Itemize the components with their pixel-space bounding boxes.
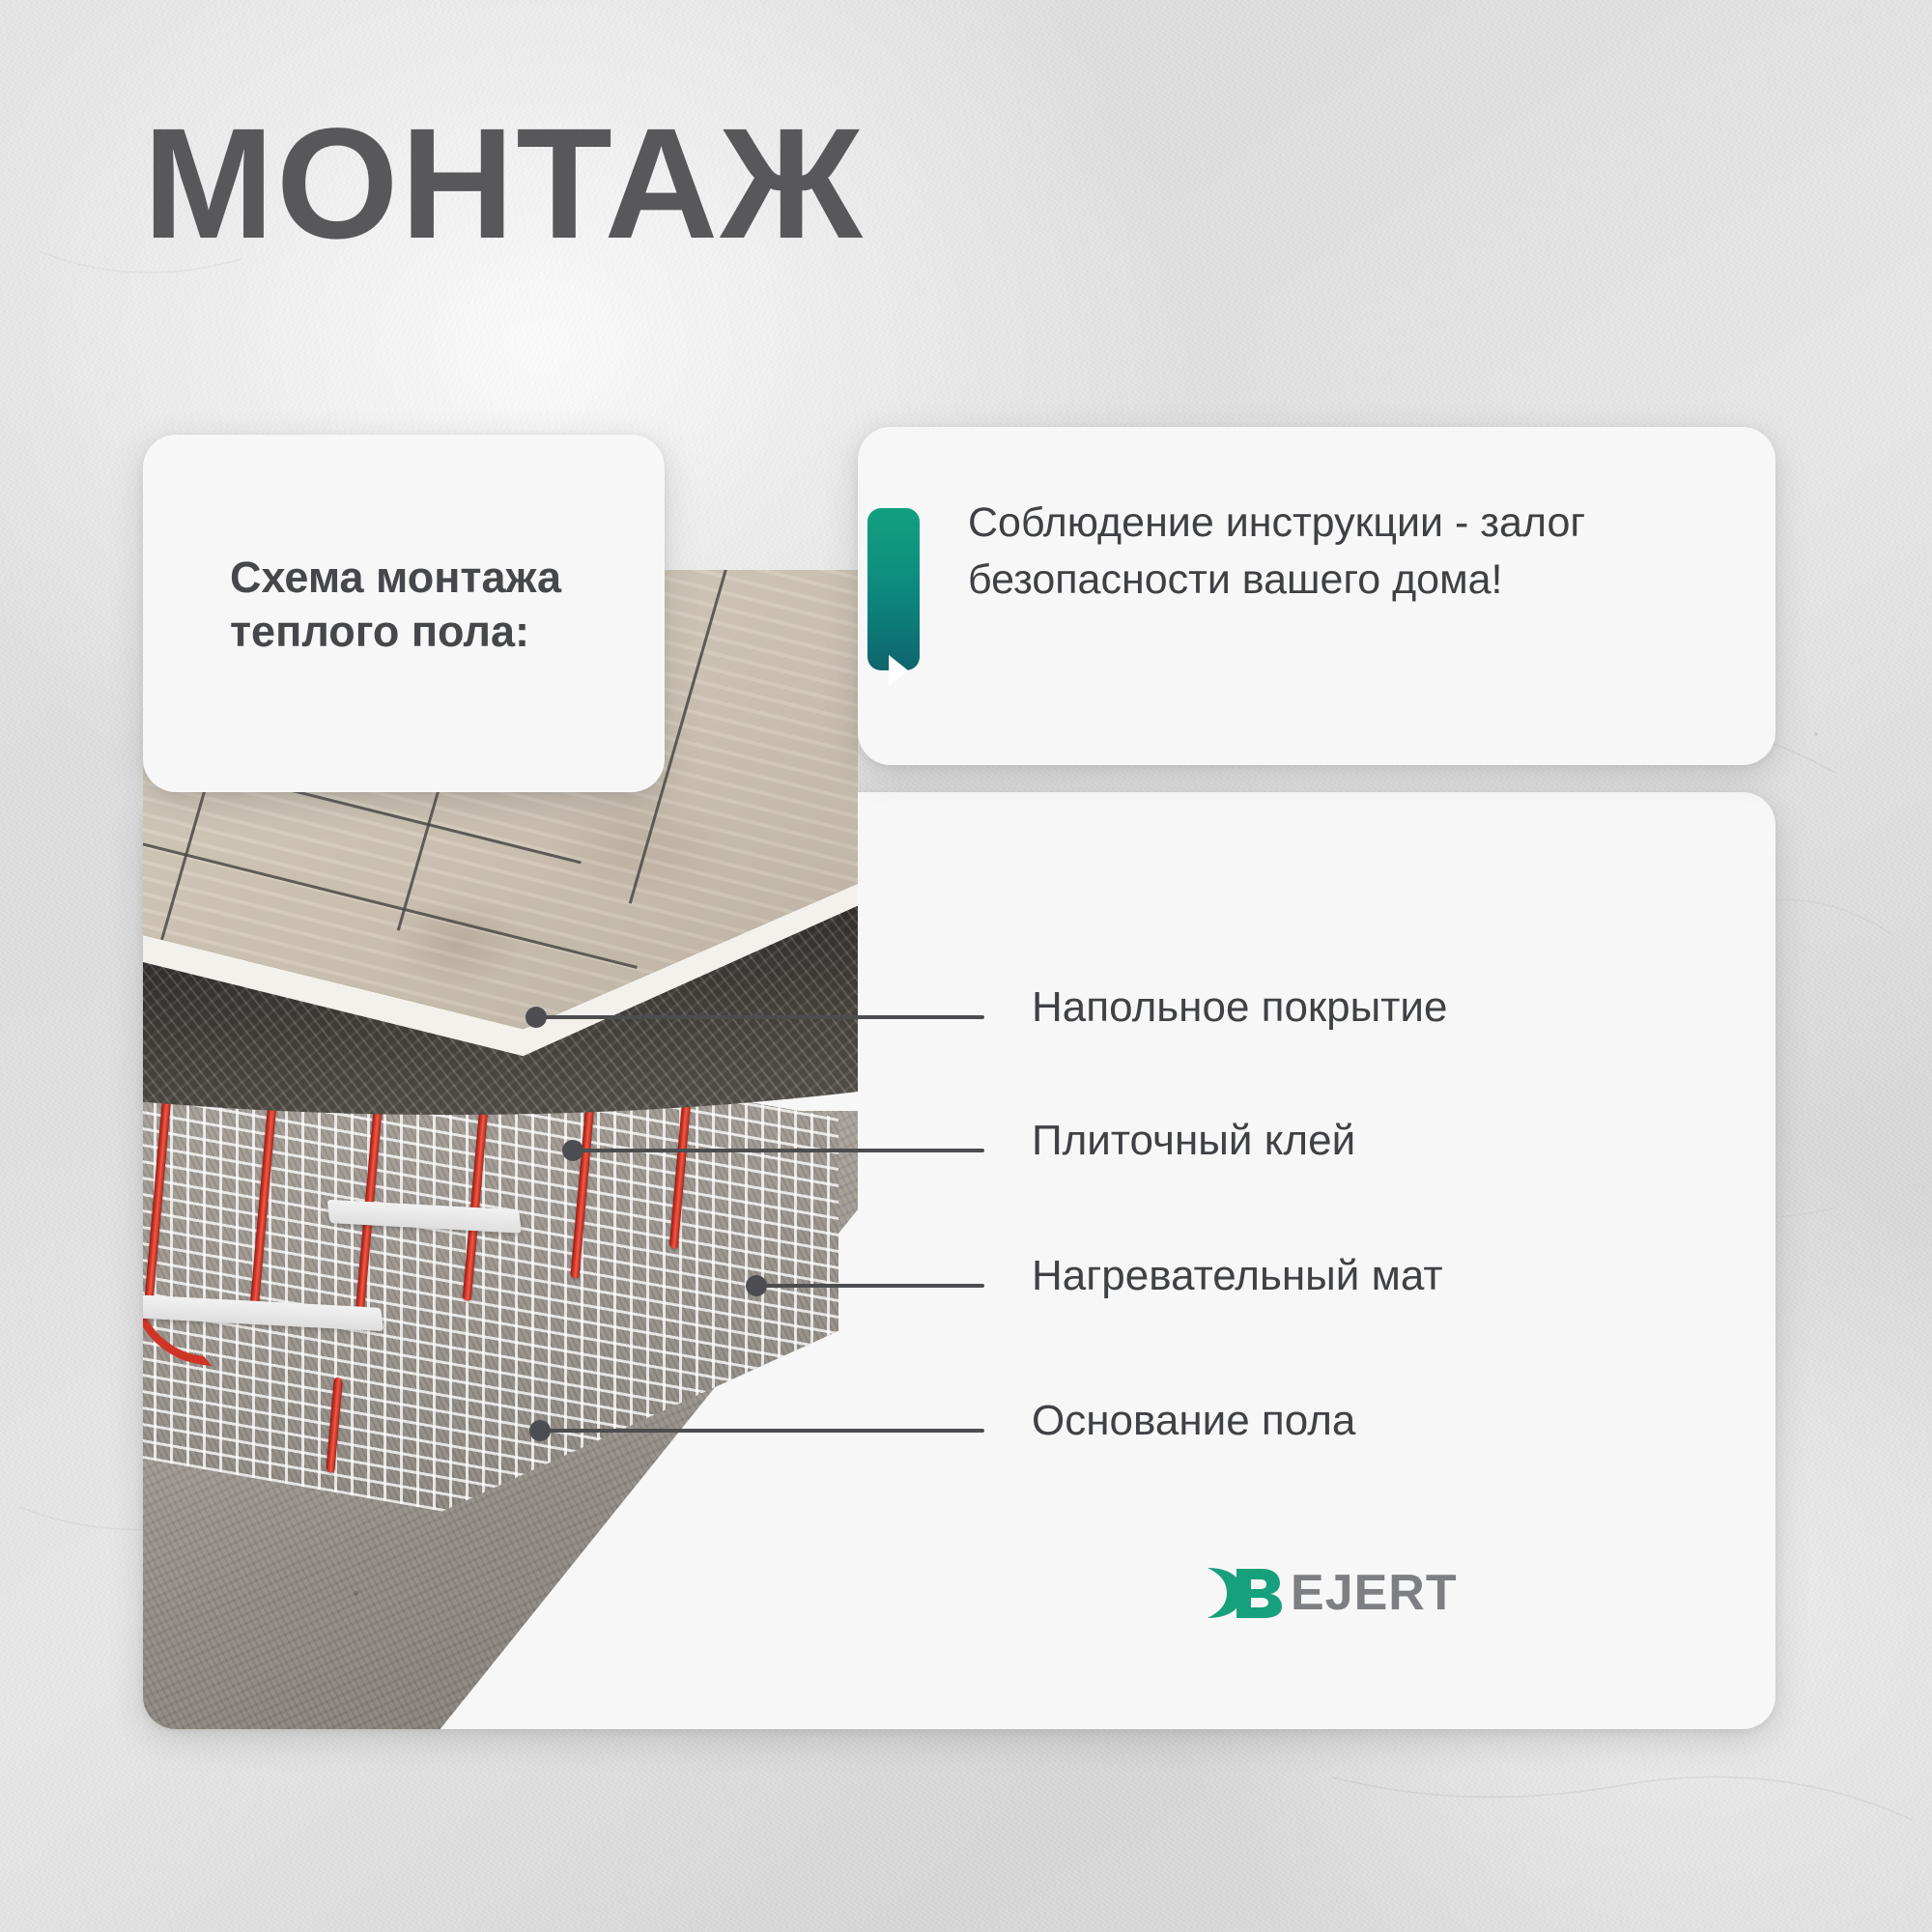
layer-label-floor-covering: Напольное покрытие bbox=[1032, 983, 1447, 1032]
leader-dot-floor-covering bbox=[526, 1007, 547, 1028]
brand-logo-text: EJERT bbox=[1291, 1568, 1458, 1618]
leader-dot-tile-adhesive bbox=[562, 1140, 583, 1161]
page-title: МОНТАЖ bbox=[143, 104, 865, 262]
layer-label-heating-mat: Нагревательный мат bbox=[1032, 1252, 1443, 1300]
leader-line-tile-adhesive bbox=[573, 1149, 984, 1152]
scheme-card: Схема монтажа теплого пола: bbox=[143, 435, 665, 792]
note-card: Соблюдение инструкции - залог безопаснос… bbox=[858, 427, 1776, 765]
leader-line-floor-base bbox=[540, 1429, 984, 1433]
leader-dot-floor-base bbox=[529, 1420, 551, 1441]
note-card-text: Соблюдение инструкции - залог безопаснос… bbox=[968, 495, 1702, 610]
scheme-card-title: Схема монтажа теплого пола: bbox=[230, 551, 645, 660]
leader-line-floor-covering bbox=[536, 1015, 984, 1019]
brand-logo: EJERT bbox=[1206, 1565, 1458, 1621]
bejert-b-mark-icon bbox=[1206, 1565, 1289, 1621]
note-accent-bar bbox=[867, 508, 920, 670]
layer-label-floor-base: Основание пола bbox=[1032, 1397, 1355, 1445]
diagram-card: Напольное покрытие Плиточный клей Нагрев… bbox=[143, 792, 1776, 1729]
leader-line-heating-mat bbox=[756, 1284, 984, 1288]
leader-dot-heating-mat bbox=[746, 1275, 767, 1296]
play-triangle-icon bbox=[889, 655, 908, 686]
layer-label-tile-adhesive: Плиточный клей bbox=[1032, 1117, 1355, 1165]
